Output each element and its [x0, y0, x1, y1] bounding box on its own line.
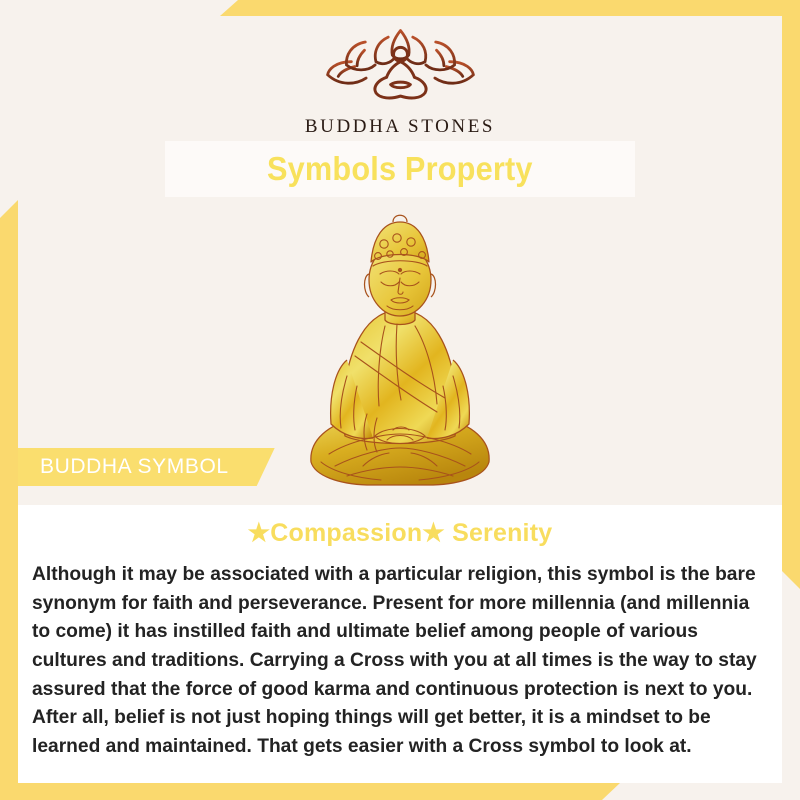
- attributes-subtitle: ★Compassion★ Serenity: [18, 518, 782, 548]
- golden-seated-buddha-illustration: [285, 200, 515, 500]
- symbol-tag-label: BUDDHA SYMBOL: [40, 455, 229, 479]
- attribute-compassion: Compassion: [270, 519, 422, 547]
- attribute-serenity: Serenity: [452, 519, 552, 547]
- title-banner: Symbols Property: [165, 141, 635, 197]
- lotus-meditation-figure-icon: [318, 24, 483, 110]
- decor-band-top: [220, 0, 800, 16]
- poster-canvas: BUDDHA STONES Symbols Property: [0, 0, 800, 800]
- brand-logo: BUDDHA STONES: [0, 24, 800, 138]
- star-icon-1: ★: [248, 519, 271, 547]
- brand-wordmark: BUDDHA STONES: [0, 116, 800, 138]
- content-panel: ★Compassion★ Serenity Although it may be…: [18, 505, 782, 783]
- symbol-tag: BUDDHA SYMBOL: [18, 448, 275, 486]
- page-title: Symbols Property: [267, 150, 533, 188]
- decor-band-bottom: [0, 783, 620, 800]
- star-icon-2: ★: [422, 519, 445, 547]
- description-paragraph: Although it may be associated with a par…: [32, 560, 757, 761]
